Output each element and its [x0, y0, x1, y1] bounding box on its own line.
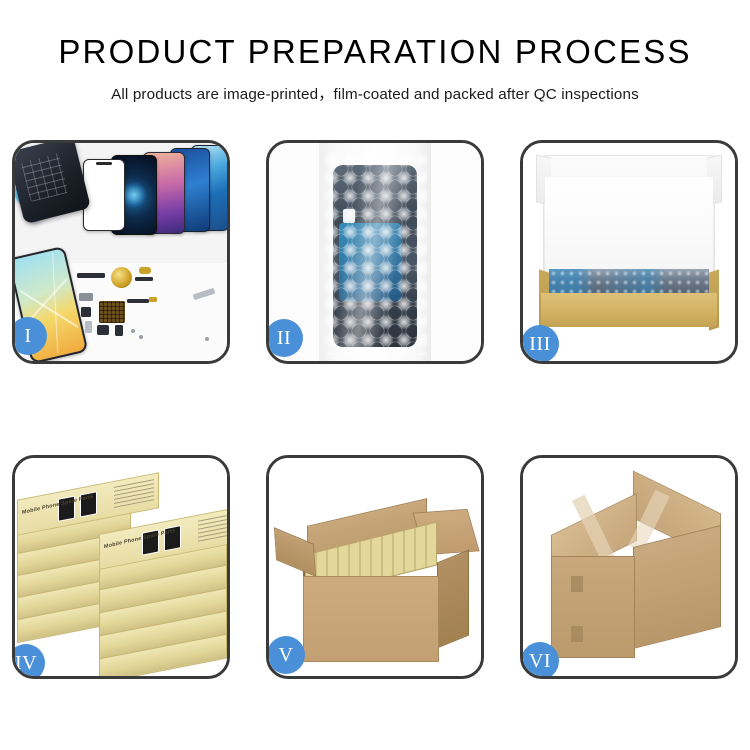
vibrator-motor-part: [111, 267, 132, 288]
packed-screens-inside: [549, 269, 709, 295]
taptic-engine-part: [97, 325, 109, 335]
step-1-image: I: [15, 143, 227, 361]
step-6-image: VI: [523, 458, 735, 676]
logic-board-chip: [99, 301, 125, 323]
process-step-grid: I II III: [12, 140, 738, 679]
box-spec-lines: [198, 512, 227, 542]
gold-connector-part: [139, 267, 151, 274]
box-spec-lines: [114, 478, 154, 508]
battery-connector-part: [115, 325, 123, 336]
step-panel-5[interactable]: V: [266, 455, 484, 679]
flex-cable-part: [77, 273, 105, 278]
bubble-wrap-layer: [323, 151, 427, 355]
sim-tray-part: [85, 321, 92, 333]
power-button-flex: [135, 277, 153, 281]
carton-seam-lower: [571, 626, 583, 642]
step-panel-3[interactable]: III: [520, 140, 738, 364]
screw-part-1: [131, 329, 135, 333]
camera-module-part: [81, 307, 91, 317]
tempered-glass-protector: [83, 159, 125, 231]
page-header: PRODUCT PREPARATION PROCESS All products…: [0, 0, 750, 104]
step-panel-2[interactable]: II: [266, 140, 484, 364]
foam-liner: [545, 177, 713, 281]
step-4-image: Mobile Phone Spare Parts Mobile Phone Sp…: [15, 458, 227, 676]
step-panel-6[interactable]: VI: [520, 455, 738, 679]
gold-contact-part: [149, 297, 157, 302]
carton-seam-upper: [571, 576, 583, 592]
screw-part-3: [205, 337, 209, 341]
page-subtitle: All products are image-printed，film-coat…: [0, 82, 750, 104]
step-2-image: II: [269, 143, 481, 361]
speaker-module-part: [79, 293, 93, 301]
mailer-front-wall: [541, 293, 717, 327]
step-panel-1[interactable]: I: [12, 140, 230, 364]
step-badge-6: VI: [523, 642, 559, 676]
step-5-image: V: [269, 458, 481, 676]
antenna-flex-part: [127, 299, 149, 303]
carton-side-panel: [437, 550, 469, 649]
step-panel-4[interactable]: Mobile Phone Spare Parts Mobile Phone Sp…: [12, 455, 230, 679]
carton-front-panel: [303, 576, 439, 662]
step-badge-3: III: [523, 325, 559, 361]
step-3-image: III: [523, 143, 735, 361]
sealed-carton-front: [551, 556, 635, 658]
screw-part-2: [139, 335, 143, 339]
page-title: PRODUCT PREPARATION PROCESS: [0, 34, 750, 70]
